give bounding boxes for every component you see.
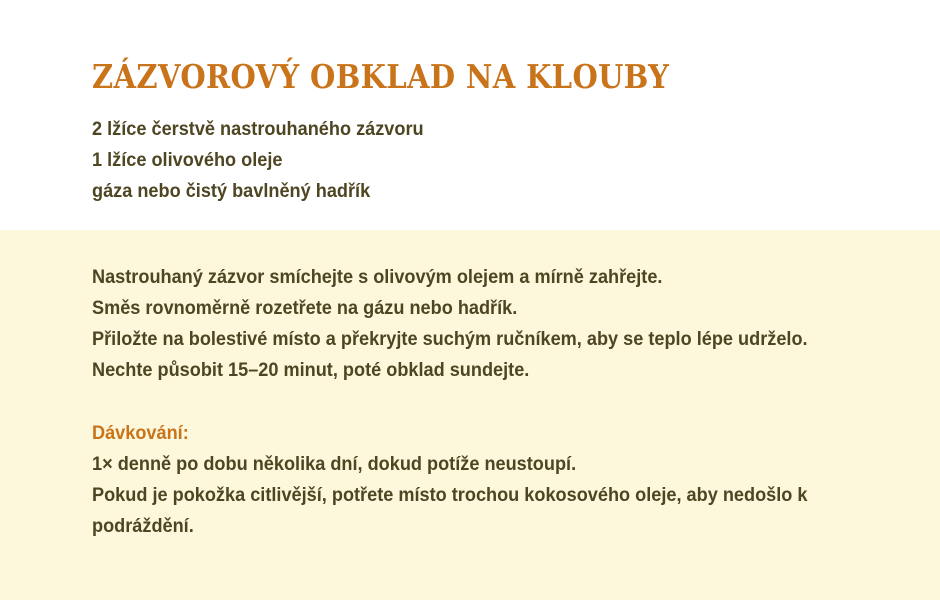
list-item: gáza nebo čistý bavlněný hadřík: [92, 176, 881, 207]
dosage-list: 1× denně po dobu několika dní, dokud pot…: [92, 449, 912, 542]
ingredients-list: 2 lžíce čerstvě nastrouhaného zázvoru 1 …: [92, 93, 940, 207]
list-item: Nechte působit 15–20 minut, poté obklad …: [92, 355, 836, 386]
list-item: Pokud je pokožka citlivější, potřete mís…: [92, 480, 855, 542]
page-title: ZÁZVOROVÝ OBKLAD NA KLOUBY: [92, 0, 838, 93]
dosage-heading: Dávkování:: [92, 418, 855, 449]
dosage-section: Dávkování: 1× denně po dobu několika dní…: [92, 386, 912, 542]
list-item: 2 lžíce čerstvě nastrouhaného zázvoru: [92, 114, 881, 145]
instructions-list: Nastrouhaný zázvor smíchejte s olivovým …: [92, 230, 892, 386]
list-item: Přiložte na bolestivé místo a překryjte …: [92, 324, 836, 355]
list-item: Směs rovnoměrně rozetřete na gázu nebo h…: [92, 293, 836, 324]
recipe-card: ZÁZVOROVÝ OBKLAD NA KLOUBY 2 lžíce čerst…: [0, 0, 940, 600]
recipe-instructions-section: Nastrouhaný zázvor smíchejte s olivovým …: [0, 230, 940, 600]
list-item: 1× denně po dobu několika dní, dokud pot…: [92, 449, 855, 480]
list-item: Nastrouhaný zázvor smíchejte s olivovým …: [92, 262, 836, 293]
list-item: 1 lžíce olivového oleje: [92, 145, 881, 176]
recipe-header-section: ZÁZVOROVÝ OBKLAD NA KLOUBY 2 lžíce čerst…: [0, 0, 940, 230]
